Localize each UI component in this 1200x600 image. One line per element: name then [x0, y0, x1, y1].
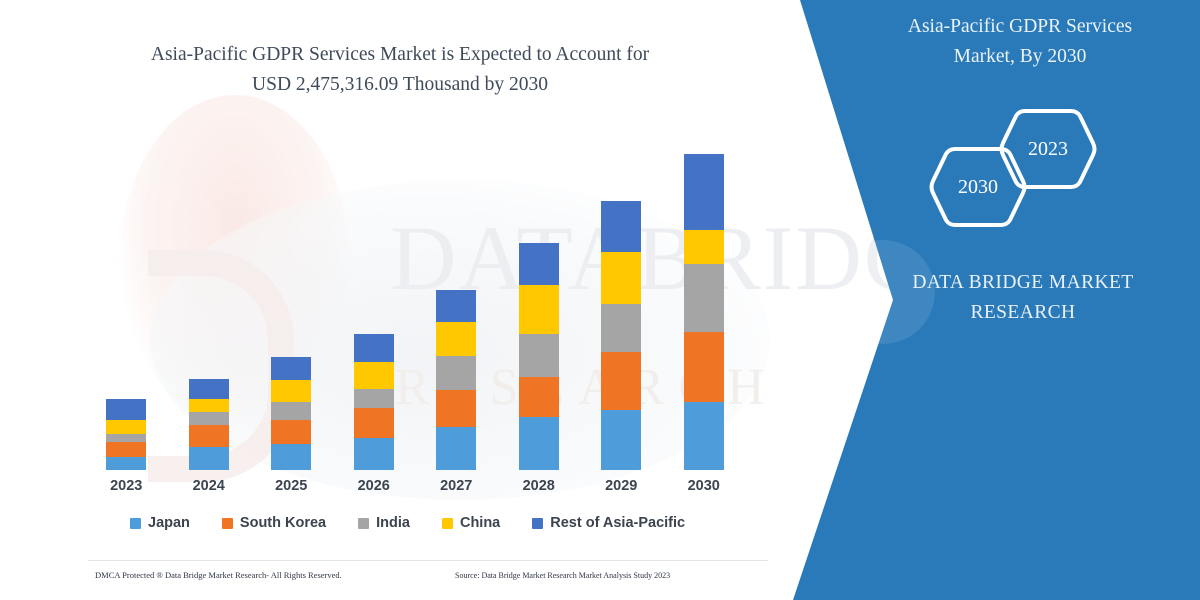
x-axis-tick-2027: 2027	[426, 478, 486, 494]
bar-segment-2030-china	[684, 230, 724, 264]
bar-segment-2025-south-korea	[271, 420, 311, 444]
bar-segment-2029-rest-of-asia-pacific	[601, 201, 641, 252]
bar-segment-2026-rest-of-asia-pacific	[354, 334, 394, 362]
footer-divider	[88, 560, 768, 561]
bar-segment-2028-japan	[519, 417, 559, 470]
bar-segment-2023-india	[106, 434, 146, 442]
legend-swatch-icon	[442, 518, 453, 529]
hexagon-2023-label: 2023	[998, 105, 1098, 193]
bar-segment-2030-rest-of-asia-pacific	[684, 154, 724, 230]
bar-segment-2027-japan	[436, 427, 476, 470]
footer-copyright: DMCA Protected ® Data Bridge Market Rese…	[95, 570, 342, 580]
legend-item-south-korea[interactable]: South Korea	[222, 515, 326, 531]
bar-segment-2030-japan	[684, 402, 724, 470]
bar-segment-2026-china	[354, 362, 394, 389]
bar-segment-2027-india	[436, 356, 476, 390]
bar-segment-2028-south-korea	[519, 377, 559, 417]
bar-segment-2029-japan	[601, 410, 641, 470]
bar-segment-2025-japan	[271, 444, 311, 470]
bar-2027	[436, 290, 476, 470]
x-axis-tick-2026: 2026	[344, 478, 404, 494]
legend-item-india[interactable]: India	[358, 515, 410, 531]
chart-title-line-1: Asia-Pacific GDPR Services Market is Exp…	[80, 40, 720, 70]
bar-segment-2029-south-korea	[601, 352, 641, 410]
bar-2029	[601, 201, 641, 470]
bar-2028	[519, 243, 559, 470]
footer-source: Source: Data Bridge Market Research Mark…	[455, 571, 670, 580]
bar-segment-2027-south-korea	[436, 390, 476, 427]
bar-segment-2030-india	[684, 264, 724, 332]
x-axis-tick-2025: 2025	[261, 478, 321, 494]
bar-2023	[106, 399, 146, 470]
hexagon-2023: 2023	[998, 105, 1098, 193]
legend-item-rest-of-asia-pacific[interactable]: Rest of Asia-Pacific	[532, 515, 685, 531]
legend-swatch-icon	[532, 518, 543, 529]
bar-segment-2030-south-korea	[684, 332, 724, 402]
legend-label: Japan	[148, 515, 190, 531]
legend-label: China	[460, 515, 500, 531]
hexagon-group: 2030 2023	[928, 105, 1118, 225]
legend-swatch-icon	[222, 518, 233, 529]
bar-segment-2027-rest-of-asia-pacific	[436, 290, 476, 322]
legend-label: India	[376, 515, 410, 531]
bar-2025	[271, 357, 311, 470]
bar-segment-2029-china	[601, 252, 641, 304]
bar-segment-2026-japan	[354, 438, 394, 470]
x-axis-labels: 20232024202520262027202820292030	[85, 478, 745, 498]
infographic-canvas: DATABRIDGE RESEARCH Asia-Pacific GDPR Se…	[0, 0, 1200, 600]
bar-segment-2027-china	[436, 322, 476, 356]
bar-segment-2029-india	[601, 304, 641, 352]
bar-segment-2024-china	[189, 399, 229, 412]
bar-segment-2025-rest-of-asia-pacific	[271, 357, 311, 380]
bar-segment-2023-rest-of-asia-pacific	[106, 399, 146, 420]
bar-2026	[354, 334, 394, 470]
legend-label: Rest of Asia-Pacific	[550, 515, 685, 531]
x-axis-tick-2028: 2028	[509, 478, 569, 494]
x-axis-tick-2030: 2030	[674, 478, 734, 494]
bar-segment-2025-china	[271, 380, 311, 402]
legend-item-china[interactable]: China	[442, 515, 500, 531]
bar-2030	[684, 154, 724, 470]
brand-name: DATA BRIDGE MARKET RESEARCH	[868, 268, 1178, 328]
legend-label: South Korea	[240, 515, 326, 531]
panel-title-line-2: Market, By 2030	[870, 42, 1170, 72]
brand-line-2: RESEARCH	[868, 298, 1178, 328]
x-axis-tick-2024: 2024	[179, 478, 239, 494]
brand-line-1: DATA BRIDGE MARKET	[868, 268, 1178, 298]
legend-item-japan[interactable]: Japan	[130, 515, 190, 531]
bar-segment-2024-south-korea	[189, 425, 229, 447]
stacked-bar-chart	[85, 130, 745, 470]
bar-segment-2026-india	[354, 389, 394, 408]
x-axis-tick-2023: 2023	[96, 478, 156, 494]
bar-segment-2023-japan	[106, 457, 146, 470]
right-panel-content: Asia-Pacific GDPR Services Market, By 20…	[880, 0, 1180, 600]
bar-segment-2023-china	[106, 420, 146, 434]
x-axis-tick-2029: 2029	[591, 478, 651, 494]
bar-2024	[189, 379, 229, 470]
legend-swatch-icon	[130, 518, 141, 529]
chart-legend: JapanSouth KoreaIndiaChinaRest of Asia-P…	[130, 512, 717, 534]
panel-title: Asia-Pacific GDPR Services Market, By 20…	[870, 12, 1170, 72]
chart-title: Asia-Pacific GDPR Services Market is Exp…	[80, 40, 720, 100]
bar-segment-2028-rest-of-asia-pacific	[519, 243, 559, 285]
bar-segment-2024-rest-of-asia-pacific	[189, 379, 229, 399]
bar-segment-2023-south-korea	[106, 442, 146, 457]
bar-segment-2025-india	[271, 402, 311, 420]
bar-segment-2028-india	[519, 334, 559, 377]
legend-swatch-icon	[358, 518, 369, 529]
bar-segment-2028-china	[519, 285, 559, 334]
bar-segment-2026-south-korea	[354, 408, 394, 438]
panel-title-line-1: Asia-Pacific GDPR Services	[870, 12, 1170, 42]
bar-segment-2024-india	[189, 412, 229, 425]
chart-title-line-2: USD 2,475,316.09 Thousand by 2030	[80, 70, 720, 100]
bar-segment-2024-japan	[189, 447, 229, 470]
